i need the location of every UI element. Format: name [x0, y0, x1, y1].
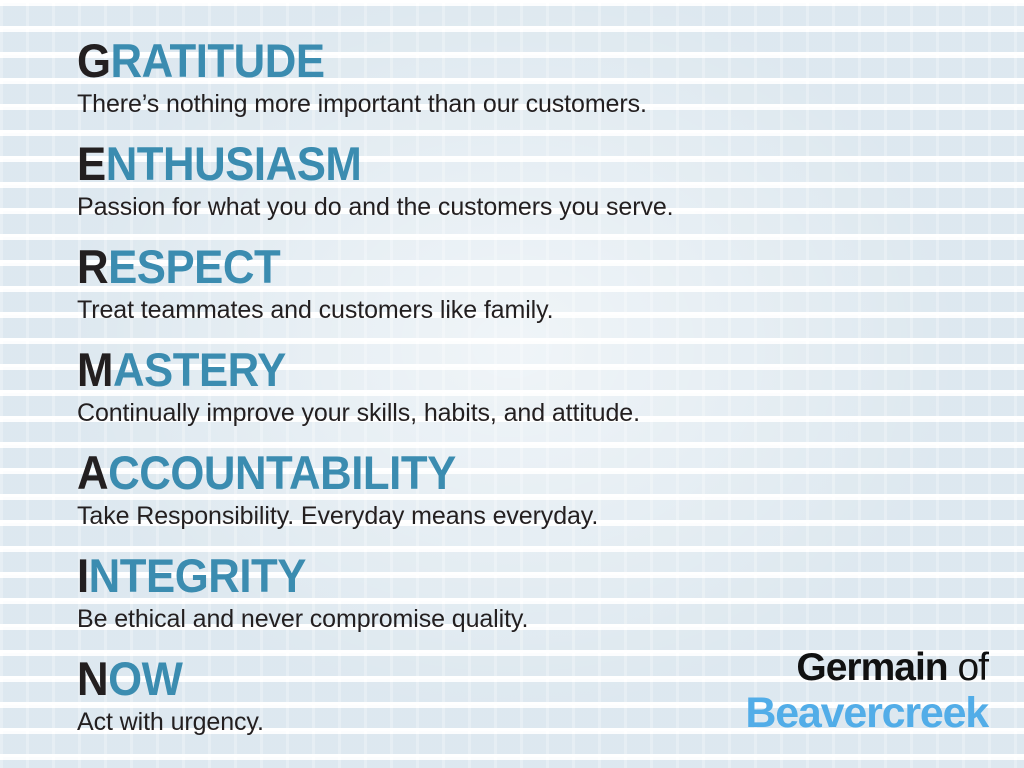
- value-block-accountability: ACCOUNTABILITY Take Responsibility. Ever…: [77, 446, 977, 532]
- value-rest-mastery: ASTERY: [113, 343, 286, 396]
- value-rest-accountability: CCOUNTABILITY: [108, 446, 456, 499]
- value-description-enthusiasm: Passion for what you do and the customer…: [77, 192, 977, 223]
- core-values-list: GRATITUDE There’s nothing more important…: [77, 34, 977, 738]
- values-poster: GRATITUDE There’s nothing more important…: [0, 0, 1024, 768]
- value-rest-enthusiasm: NTHUSIASM: [106, 137, 362, 190]
- value-rest-gratitude: RATITUDE: [111, 34, 325, 87]
- value-rest-integrity: NTEGRITY: [89, 549, 306, 602]
- value-block-mastery: MASTERY Continually improve your skills,…: [77, 343, 977, 429]
- value-heading-gratitude: GRATITUDE: [77, 34, 914, 87]
- value-initial-m: M: [77, 343, 113, 396]
- value-initial-g: G: [77, 34, 111, 87]
- logo-connector: of: [948, 646, 988, 689]
- value-block-respect: RESPECT Treat teammates and customers li…: [77, 240, 977, 326]
- value-block-gratitude: GRATITUDE There’s nothing more important…: [77, 34, 977, 120]
- value-description-respect: Treat teammates and customers like famil…: [77, 295, 977, 326]
- value-rest-respect: ESPECT: [108, 240, 280, 293]
- dealership-logo: Germain of Beavercreek: [745, 646, 988, 736]
- logo-location-name: Beavercreek: [745, 690, 988, 736]
- logo-brand-name: Germain: [796, 646, 947, 689]
- value-heading-enthusiasm: ENTHUSIASM: [77, 137, 914, 190]
- value-description-integrity: Be ethical and never compromise quality.: [77, 604, 977, 635]
- value-heading-respect: RESPECT: [77, 240, 914, 293]
- value-block-integrity: INTEGRITY Be ethical and never compromis…: [77, 549, 977, 635]
- value-initial-r: R: [77, 240, 108, 293]
- value-rest-now: OW: [108, 652, 182, 705]
- value-block-enthusiasm: ENTHUSIASM Passion for what you do and t…: [77, 137, 977, 223]
- value-description-mastery: Continually improve your skills, habits,…: [77, 398, 977, 429]
- value-initial-n: N: [77, 652, 108, 705]
- value-initial-i: I: [77, 549, 89, 602]
- value-initial-a: A: [77, 446, 108, 499]
- value-description-accountability: Take Responsibility. Everyday means ever…: [77, 501, 977, 532]
- value-heading-integrity: INTEGRITY: [77, 549, 914, 602]
- logo-line-primary: Germain of: [745, 646, 988, 689]
- value-heading-accountability: ACCOUNTABILITY: [77, 446, 914, 499]
- value-heading-mastery: MASTERY: [77, 343, 914, 396]
- value-description-gratitude: There’s nothing more important than our …: [77, 89, 977, 120]
- value-initial-e: E: [77, 137, 106, 190]
